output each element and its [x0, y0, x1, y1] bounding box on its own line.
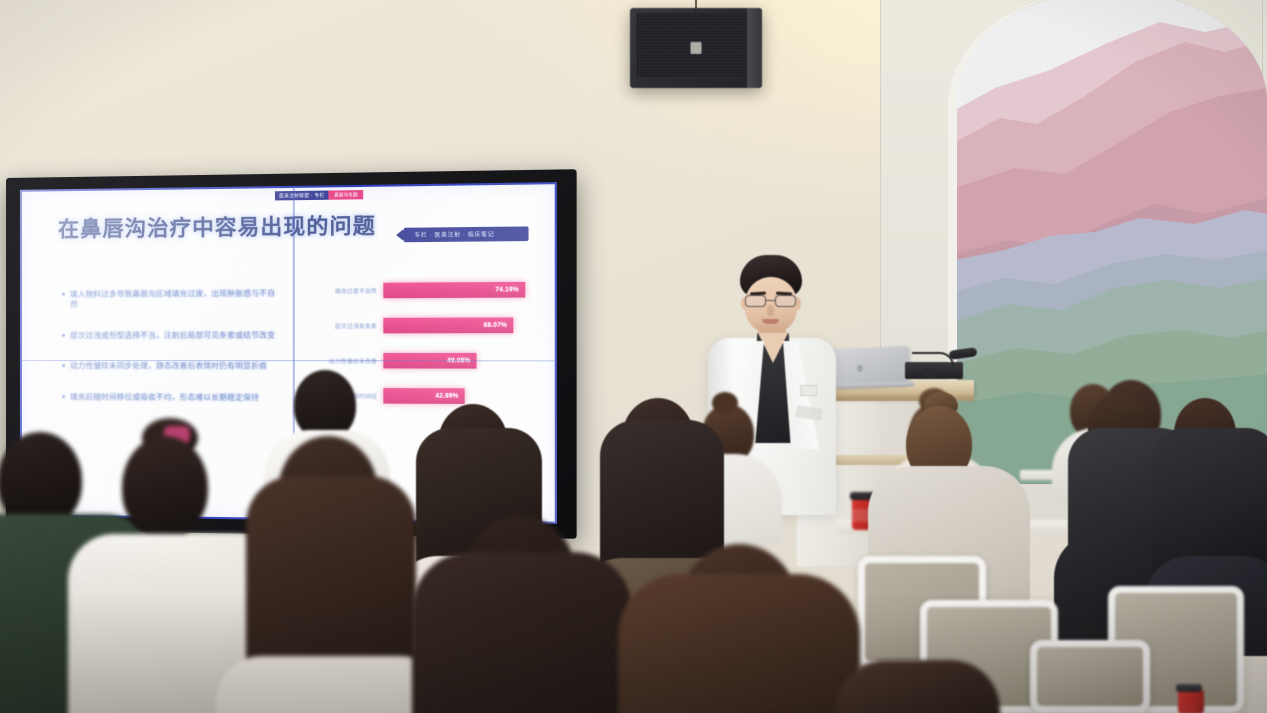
ceiling-speaker: [630, 8, 762, 88]
bar-track: 68.07%: [383, 317, 557, 333]
eyeglass-lens-left: [745, 295, 766, 307]
presenter-mouth: [762, 319, 779, 324]
eyeglass-bridge: [766, 300, 776, 301]
bullet-text: 填充后随时间移位或吸收不均，形态难以长期稳定保持: [70, 392, 259, 403]
slide-badge-pink: 鼻唇沟专题: [329, 190, 363, 200]
person-head: [122, 436, 208, 538]
bar-fill: 74.19%: [383, 282, 525, 298]
slide-bullet-list: 填入物料过多导致鼻唇沟区域填充过度，出现肿胀感与不自然 层次过浅或剂型选择不当，…: [62, 288, 282, 424]
slide-corner-tag: 专栏 · 医美注射 · 临床笔记: [404, 226, 529, 242]
bullet-dot-icon: [62, 333, 65, 336]
name-badge: [800, 385, 817, 396]
list-item: 填入物料过多导致鼻唇沟区域填充过度，出现肿胀感与不自然: [62, 288, 282, 309]
cup-lid: [1176, 684, 1202, 692]
bullet-dot-icon: [62, 364, 65, 367]
bar-track: 74.19%: [383, 282, 557, 299]
bar-category-label: 层次过浅有条索: [320, 321, 383, 329]
person-hair: [618, 574, 860, 713]
person-hair: [246, 476, 416, 666]
bar-value-label: 74.19%: [495, 287, 525, 293]
speaker-side-panel: [747, 8, 762, 88]
slide-badge-group: 医美注射联盟 · 专栏 鼻唇沟专题: [275, 190, 363, 200]
chart-bar-row: 填充过度不自然 74.19%: [320, 282, 557, 299]
slide-title: 在鼻唇沟治疗中容易出现的问题: [58, 209, 376, 243]
coffee-cup: [1178, 690, 1204, 713]
bar-fill: 68.07%: [383, 317, 513, 333]
lecture-hall-photo: 医美注射联盟 · 专栏 鼻唇沟专题 在鼻唇沟治疗中容易出现的问题 专栏 · 医美…: [0, 0, 1267, 713]
microphone-gooseneck: [912, 352, 954, 368]
list-item: 填充后随时间移位或吸收不均，形态难以长期稳定保持: [62, 392, 282, 403]
person-hair: [412, 552, 632, 713]
microphone-knob[interactable]: [922, 369, 936, 378]
apple-logo-icon: [857, 364, 863, 371]
speaker-logo: [691, 42, 702, 54]
eyeglass-lens-right: [775, 295, 796, 307]
tag-pin-icon: [396, 230, 407, 240]
chart-bar-row: 层次过浅有条索 68.07%: [320, 317, 557, 333]
chair-backrest: [1030, 640, 1150, 713]
bullet-text: 动力性皱纹未同步处理，静态改善后表情时仍有明显折痕: [70, 361, 267, 371]
bar-category-label: 填充过度不自然: [320, 286, 383, 295]
bar-track: 42.89%: [383, 388, 557, 404]
bullet-text: 层次过浅或剂型选择不当，注射后局部可见条索或结节改变: [70, 330, 275, 340]
bar-value-label: 68.07%: [484, 322, 514, 328]
list-item: 层次过浅或剂型选择不当，注射后局部可见条索或结节改变: [62, 330, 282, 340]
audience-member: [826, 660, 1006, 713]
bar-fill: 42.89%: [383, 388, 465, 404]
slide-tag-label: 专栏 · 医美注射 · 临床笔记: [414, 230, 494, 239]
chair: [1030, 640, 1150, 713]
presenter-nose: [767, 305, 774, 316]
bar-value-label: 42.89%: [435, 393, 465, 399]
bullet-dot-icon: [62, 293, 65, 296]
bullet-text: 填入物料过多导致鼻唇沟区域填充过度，出现肿胀感与不自然: [70, 288, 282, 309]
person-hair: [836, 660, 1000, 713]
bullet-dot-icon: [62, 395, 65, 398]
slide-badge-blue: 医美注射联盟 · 专栏: [275, 191, 329, 201]
list-item: 动力性皱纹未同步处理，静态改善后表情时仍有明显折痕: [62, 361, 282, 371]
